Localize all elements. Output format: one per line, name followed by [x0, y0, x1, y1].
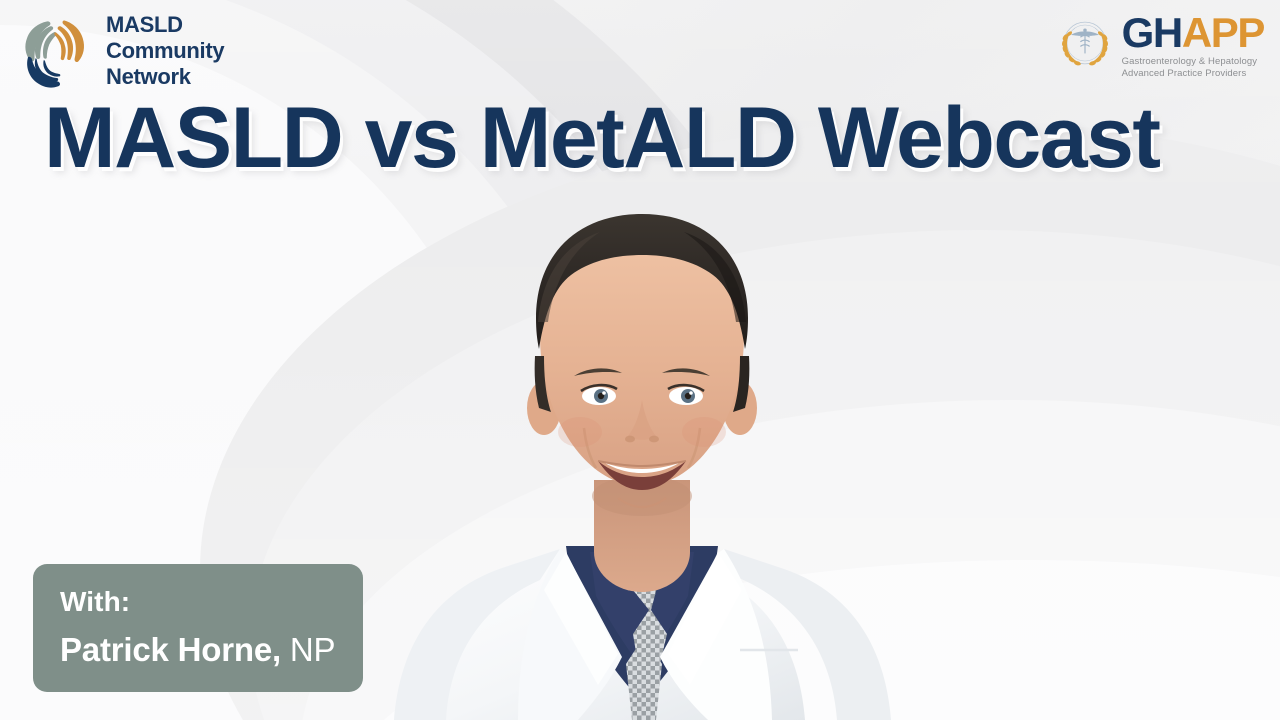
masld-logo-line-1: MASLD: [106, 12, 224, 38]
ghapp-wordmark: GHAPP Gastroenterology & Hepatology Adva…: [1122, 12, 1264, 80]
masld-logo-wordmark: MASLD Community Network: [106, 12, 224, 89]
speaker-badge: With: Patrick Horne, NP: [33, 564, 363, 692]
speaker-with-label: With:: [60, 586, 337, 617]
speaker-headshot-icon: [322, 180, 962, 720]
caduceus-laurel-seal-icon: [1056, 12, 1114, 72]
masld-logo-line-3: Network: [106, 64, 224, 90]
masld-logo-line-2: Community: [106, 38, 224, 64]
ghapp-logo[interactable]: GHAPP Gastroenterology & Hepatology Adva…: [1056, 12, 1264, 80]
ghapp-tagline: Gastroenterology & Hepatology Advanced P…: [1122, 56, 1264, 80]
ghapp-word: GHAPP: [1122, 12, 1264, 53]
ghapp-tagline-line-1: Gastroenterology & Hepatology: [1122, 56, 1264, 68]
ghapp-word-gh: GH: [1122, 9, 1182, 56]
masld-community-network-logo[interactable]: MASLD Community Network: [14, 10, 224, 92]
speaker-credentials: NP: [290, 631, 335, 668]
webcast-title-slide: MASLD Community Network: [0, 0, 1280, 720]
three-hands-circle-logo-icon: [14, 10, 96, 92]
speaker-name-line: Patrick Horne, NP: [60, 632, 337, 669]
page-title: MASLD vs MetALD Webcast: [44, 95, 1160, 181]
ghapp-word-app: APP: [1182, 9, 1264, 56]
ghapp-tagline-line-2: Advanced Practice Providers: [1122, 68, 1264, 80]
speaker-name: Patrick Horne,: [60, 631, 281, 668]
